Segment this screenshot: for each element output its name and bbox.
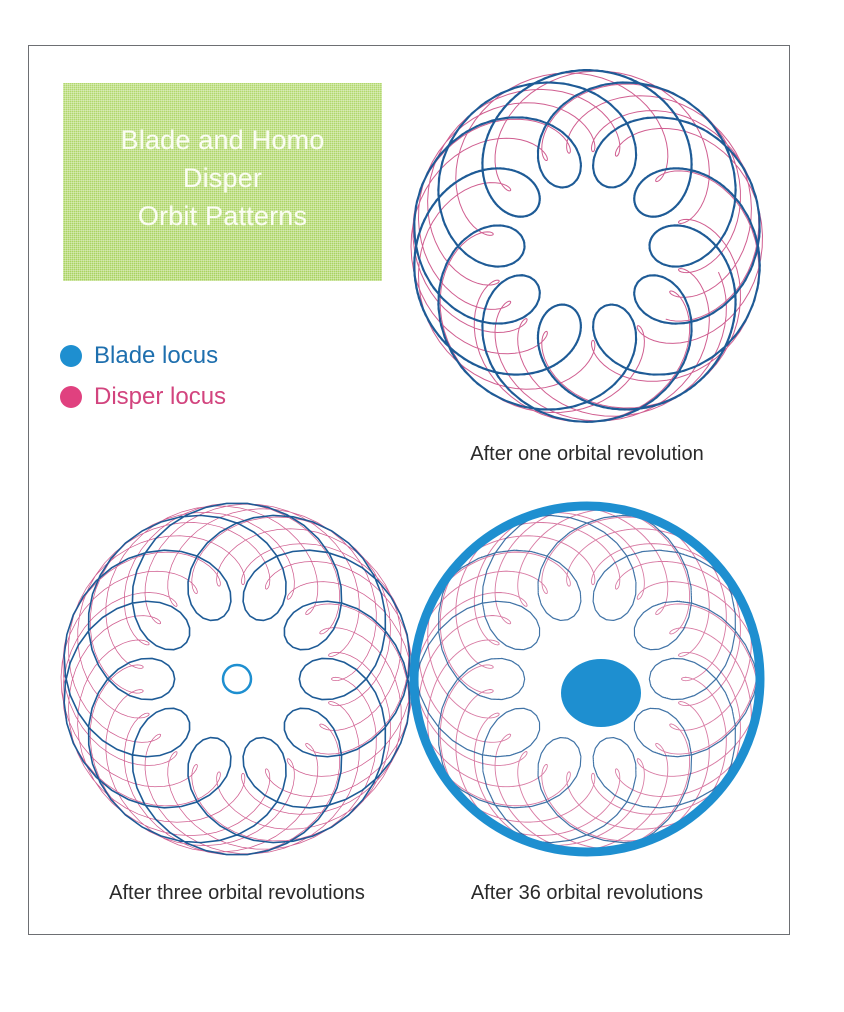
panel-caption: After 36 orbital revolutions	[397, 881, 777, 905]
orbit-panel-thirtysix-revolutions: After 36 orbital revolutions	[397, 489, 777, 905]
orbit-plot-three-revolutions	[47, 489, 427, 869]
legend-item-label: Blade locus	[94, 343, 218, 369]
blade-locus-curve	[414, 70, 760, 422]
orbit-plot-one-revolution	[397, 56, 777, 436]
panel-caption: After three orbital revolutions	[47, 881, 427, 905]
title-line-3: Orbit Patterns	[138, 197, 307, 235]
orbit-plot-thirtysix-revolutions	[397, 489, 777, 869]
saturated-core	[561, 659, 641, 727]
legend: Blade locus Disper locus	[59, 335, 359, 417]
panel-caption: After one orbital revolution	[397, 442, 777, 466]
title-box: Blade and Homo Disper Orbit Patterns	[63, 83, 382, 281]
orbit-panel-three-revolutions: After three orbital revolutions	[47, 489, 427, 905]
center-hole	[223, 665, 251, 693]
legend-item-blade-locus: Blade locus	[59, 335, 359, 376]
filled-circle-marker-icon	[60, 386, 82, 408]
title-line-1: Blade and Homo	[121, 121, 325, 159]
legend-item-label: Disper locus	[94, 384, 226, 410]
filled-circle-marker-icon	[60, 345, 82, 367]
title-line-2: Disper	[183, 159, 262, 197]
legend-item-disper-locus: Disper locus	[59, 376, 359, 417]
orbit-panel-one-revolution: After one orbital revolution	[397, 56, 777, 466]
figure-frame: Blade and Homo Disper Orbit Patterns Bla…	[28, 45, 790, 935]
